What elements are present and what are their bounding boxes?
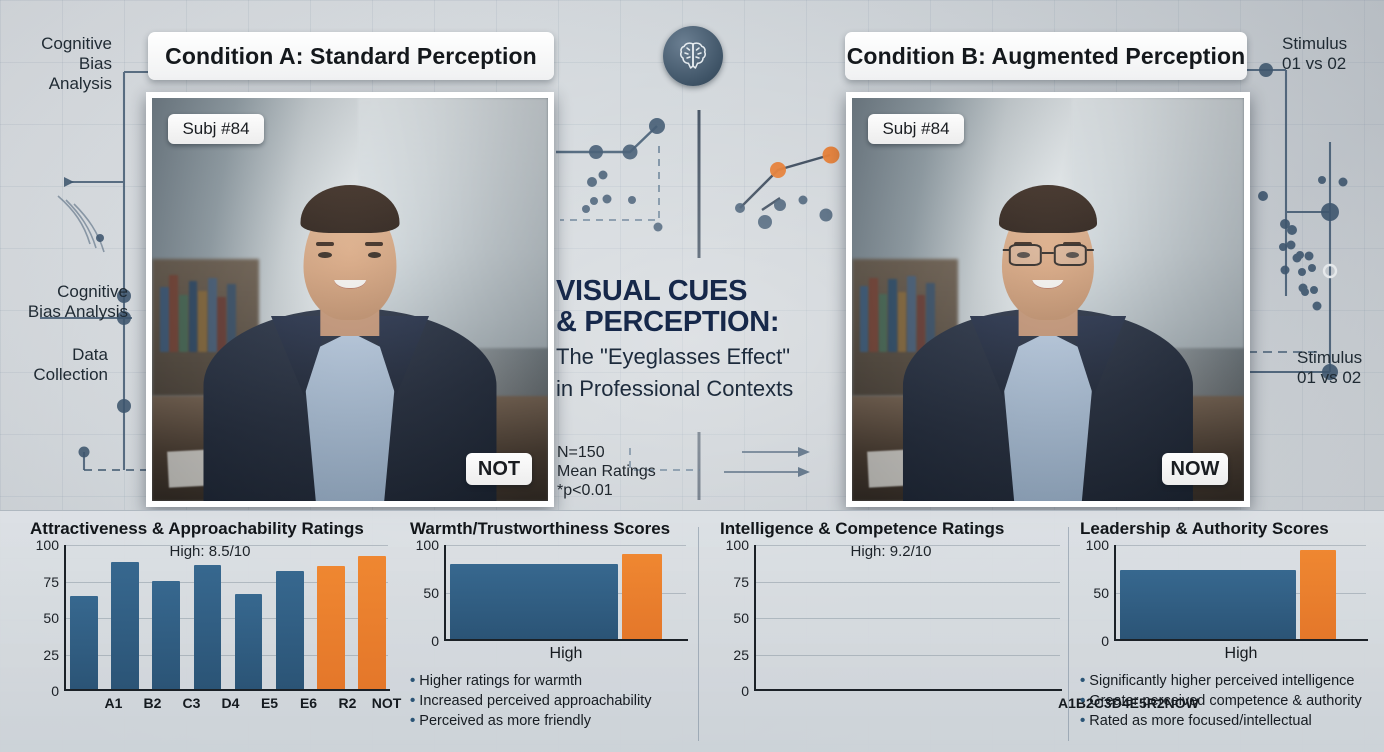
annotation-stimulus-low: Stimulus 01 vs 02	[1297, 348, 1384, 388]
y-axis: 0255075100	[720, 545, 754, 691]
chart-title: Intelligence & Competence Ratings	[720, 519, 1070, 539]
y-tick-label: 25	[733, 647, 749, 663]
chart-plot: High: 9.2/10 0255075100	[720, 545, 1062, 691]
brain-icon	[663, 26, 723, 86]
x-axis-label: High	[1108, 645, 1374, 663]
annotation-data-collection: Data Collection	[0, 345, 108, 385]
y-tick-label: 100	[36, 537, 59, 553]
photo-shading	[852, 98, 1244, 501]
x-tick-label: B2	[133, 695, 172, 711]
subtitle-line-1: The "Eyeglasses Effect"	[556, 344, 846, 370]
x-tick-label: A1	[94, 695, 133, 711]
insight-bullets: • Significantly higher perceived intelli…	[1080, 671, 1370, 731]
subject-id-badge-b: Subj #84	[868, 114, 964, 144]
insight-bullets: • Higher ratings for warmth• Increased p…	[410, 671, 690, 731]
insight-bullet: • Perceived as more friendly	[410, 711, 690, 731]
subject-photo-a: Subj #84 NOT	[152, 98, 548, 501]
chart-plot: 050100	[1080, 545, 1368, 641]
y-tick-label: 75	[733, 574, 749, 590]
y-tick-label: 50	[1093, 585, 1109, 601]
bar-c3	[152, 581, 180, 689]
subject-photo-b: Subj #84 NOW	[852, 98, 1244, 501]
x-axis-line	[754, 689, 1062, 691]
y-tick-label: 75	[43, 574, 59, 590]
photo-shading	[152, 98, 548, 501]
condition-a-photo-panel: Subj #84 NOT	[146, 92, 554, 507]
infographic-poster: Cognitive Bias Analysis Cognitive Bias A…	[0, 0, 1384, 752]
condition-badge-not: NOT	[466, 453, 532, 485]
title-line-2: & PERCEPTION:	[556, 307, 846, 338]
chart-plot: 050100	[410, 545, 688, 641]
chart-title: Warmth/Trustworthiness Scores	[410, 519, 694, 539]
chart-title: Leadership & Authority Scores	[1080, 519, 1374, 539]
brain-glyph	[676, 39, 710, 73]
y-tick-label: 100	[1086, 537, 1109, 553]
insight-bullet: • Significantly higher perceived intelli…	[1080, 671, 1370, 691]
subject-id-badge-a: Subj #84	[168, 114, 264, 144]
insight-bullet: • Rated as more focused/intellectual	[1080, 711, 1370, 731]
chart-plot: High: 8.5/10 0255075100	[30, 545, 390, 691]
y-tick-label: 100	[726, 537, 749, 553]
condition-b-header: Condition B: Augmented Perception	[845, 32, 1247, 80]
condition-a-header: Condition A: Standard Perception	[148, 32, 554, 80]
y-axis: 050100	[410, 545, 444, 641]
x-axis-line	[1114, 639, 1368, 641]
x-tick-label: E5	[250, 695, 289, 711]
y-axis: 0255075100	[30, 545, 64, 691]
x-axis-line	[444, 639, 688, 641]
page-title: VISUAL CUES & PERCEPTION: The "Eyeglasse…	[556, 276, 846, 402]
chart-card-intelligence: Intelligence & Competence Ratings High: …	[714, 511, 1070, 752]
title-line-1: VISUAL CUES	[556, 276, 846, 307]
bar-b2	[111, 562, 139, 689]
chart-title: Attractiveness & Approachability Ratings	[30, 519, 400, 539]
insight-bullet: • Increased perceived approachability	[410, 691, 690, 711]
annotation-stimulus-top: Stimulus 01 vs 02	[1282, 34, 1384, 74]
y-tick-label: 50	[423, 585, 439, 601]
annotation-cognitive-bias-mid: Cognitive Bias Analysis	[0, 282, 128, 322]
bar-augmented	[1300, 550, 1336, 639]
x-tick-label: C3	[172, 695, 211, 711]
x-tick-label: R2	[328, 695, 367, 711]
bar-augmented	[622, 554, 662, 639]
bar-group	[450, 545, 684, 639]
y-tick-label: 0	[51, 683, 59, 699]
bar-standard	[450, 564, 618, 639]
bar-e5	[235, 594, 263, 689]
condition-badge-now: NOW	[1162, 453, 1228, 485]
charts-strip: Attractiveness & Approachability Ratings…	[0, 510, 1384, 752]
bar-standard	[1120, 570, 1296, 639]
stat-pvalue: *p<0.01	[557, 481, 656, 500]
insight-bullet: • Higher ratings for warmth	[410, 671, 690, 691]
bar-group	[1120, 545, 1364, 639]
chart-divider-1	[698, 527, 699, 741]
stat-sample-size: N=150	[557, 443, 656, 462]
stat-mean-ratings: Mean Ratings	[557, 462, 656, 481]
condition-b-photo-panel: Subj #84 NOW	[846, 92, 1250, 507]
y-tick-label: 50	[733, 610, 749, 626]
x-tick-label: E6	[289, 695, 328, 711]
y-tick-label: 100	[416, 537, 439, 553]
bar-d4	[194, 565, 222, 689]
y-tick-label: 50	[43, 610, 59, 626]
statistics-note: N=150 Mean Ratings *p<0.01	[557, 443, 656, 500]
chart-card-warmth: Warmth/Trustworthiness Scores 050100 Hig…	[404, 511, 694, 752]
y-tick-label: 0	[741, 683, 749, 699]
insight-bullet: • Greater perceived competence & authori…	[1080, 691, 1370, 711]
bar-group	[760, 545, 1058, 689]
x-axis-labels: A1B2C3D4E5E6R2NOT	[94, 695, 406, 711]
y-axis: 050100	[1080, 545, 1114, 641]
x-tick-label: D4	[211, 695, 250, 711]
annotation-cognitive-bias-top: Cognitive Bias Analysis	[0, 34, 112, 94]
bar-e6	[276, 571, 304, 689]
x-axis-line	[64, 689, 390, 691]
bar-not	[358, 556, 386, 689]
bar-a1	[70, 596, 98, 689]
y-tick-label: 25	[43, 647, 59, 663]
chart-card-leadership: Leadership & Authority Scores 050100 Hig…	[1074, 511, 1374, 752]
bar-r2	[317, 566, 345, 689]
x-tick-label: NOT	[367, 695, 406, 711]
bar-group	[70, 545, 386, 689]
subtitle-line-2: in Professional Contexts	[556, 376, 846, 402]
chart-card-attractiveness: Attractiveness & Approachability Ratings…	[24, 511, 400, 752]
x-axis-label: High	[438, 645, 694, 663]
